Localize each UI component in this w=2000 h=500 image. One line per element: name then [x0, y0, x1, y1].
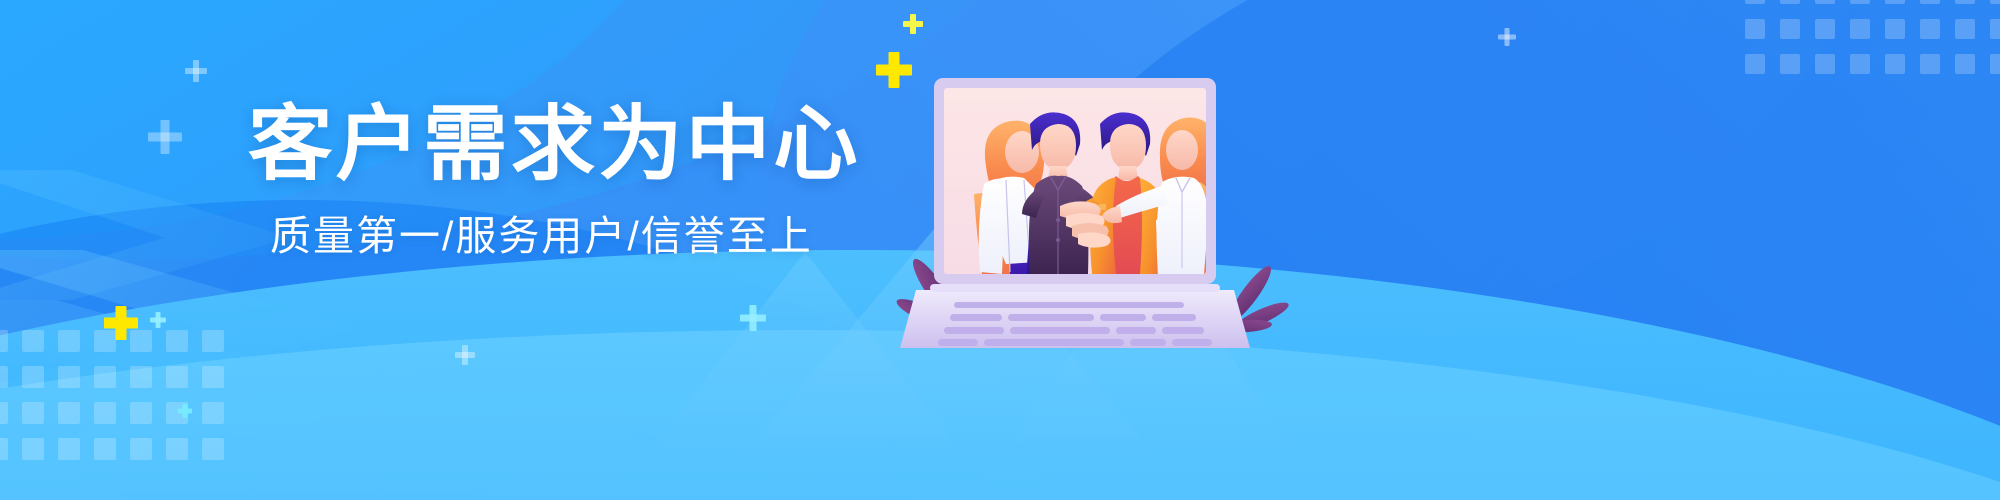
yellow-cross-icon-2 — [903, 14, 923, 34]
white-cross-icon-2 — [148, 120, 182, 154]
yellow-cross-icon-1 — [876, 52, 912, 88]
promotional-banner: 客户需求为中心 质量第一/服务用户/信誉至上 — [0, 0, 2000, 500]
square-grid-top-right — [1745, 0, 2000, 74]
white-cross-icon-1 — [185, 60, 207, 82]
banner-subline: 质量第一/服务用户/信誉至上 — [270, 216, 808, 257]
white-cross-icon-3 — [455, 345, 475, 365]
cyan-cross-icon-3 — [178, 404, 192, 418]
white-cross-icon-4 — [1498, 28, 1516, 46]
yellow-cross-icon-3 — [104, 306, 138, 340]
teamwork-laptop-illustration — [910, 58, 1310, 358]
square-grid-bottom-left — [0, 330, 224, 460]
banner-text-block: 客户需求为中心 质量第一/服务用户/信誉至上 — [248, 104, 808, 257]
laptop-hinge — [930, 284, 1220, 292]
cyan-cross-icon-1 — [740, 305, 766, 331]
banner-headline: 客户需求为中心 — [248, 104, 825, 186]
cyan-cross-icon-2 — [150, 312, 166, 328]
